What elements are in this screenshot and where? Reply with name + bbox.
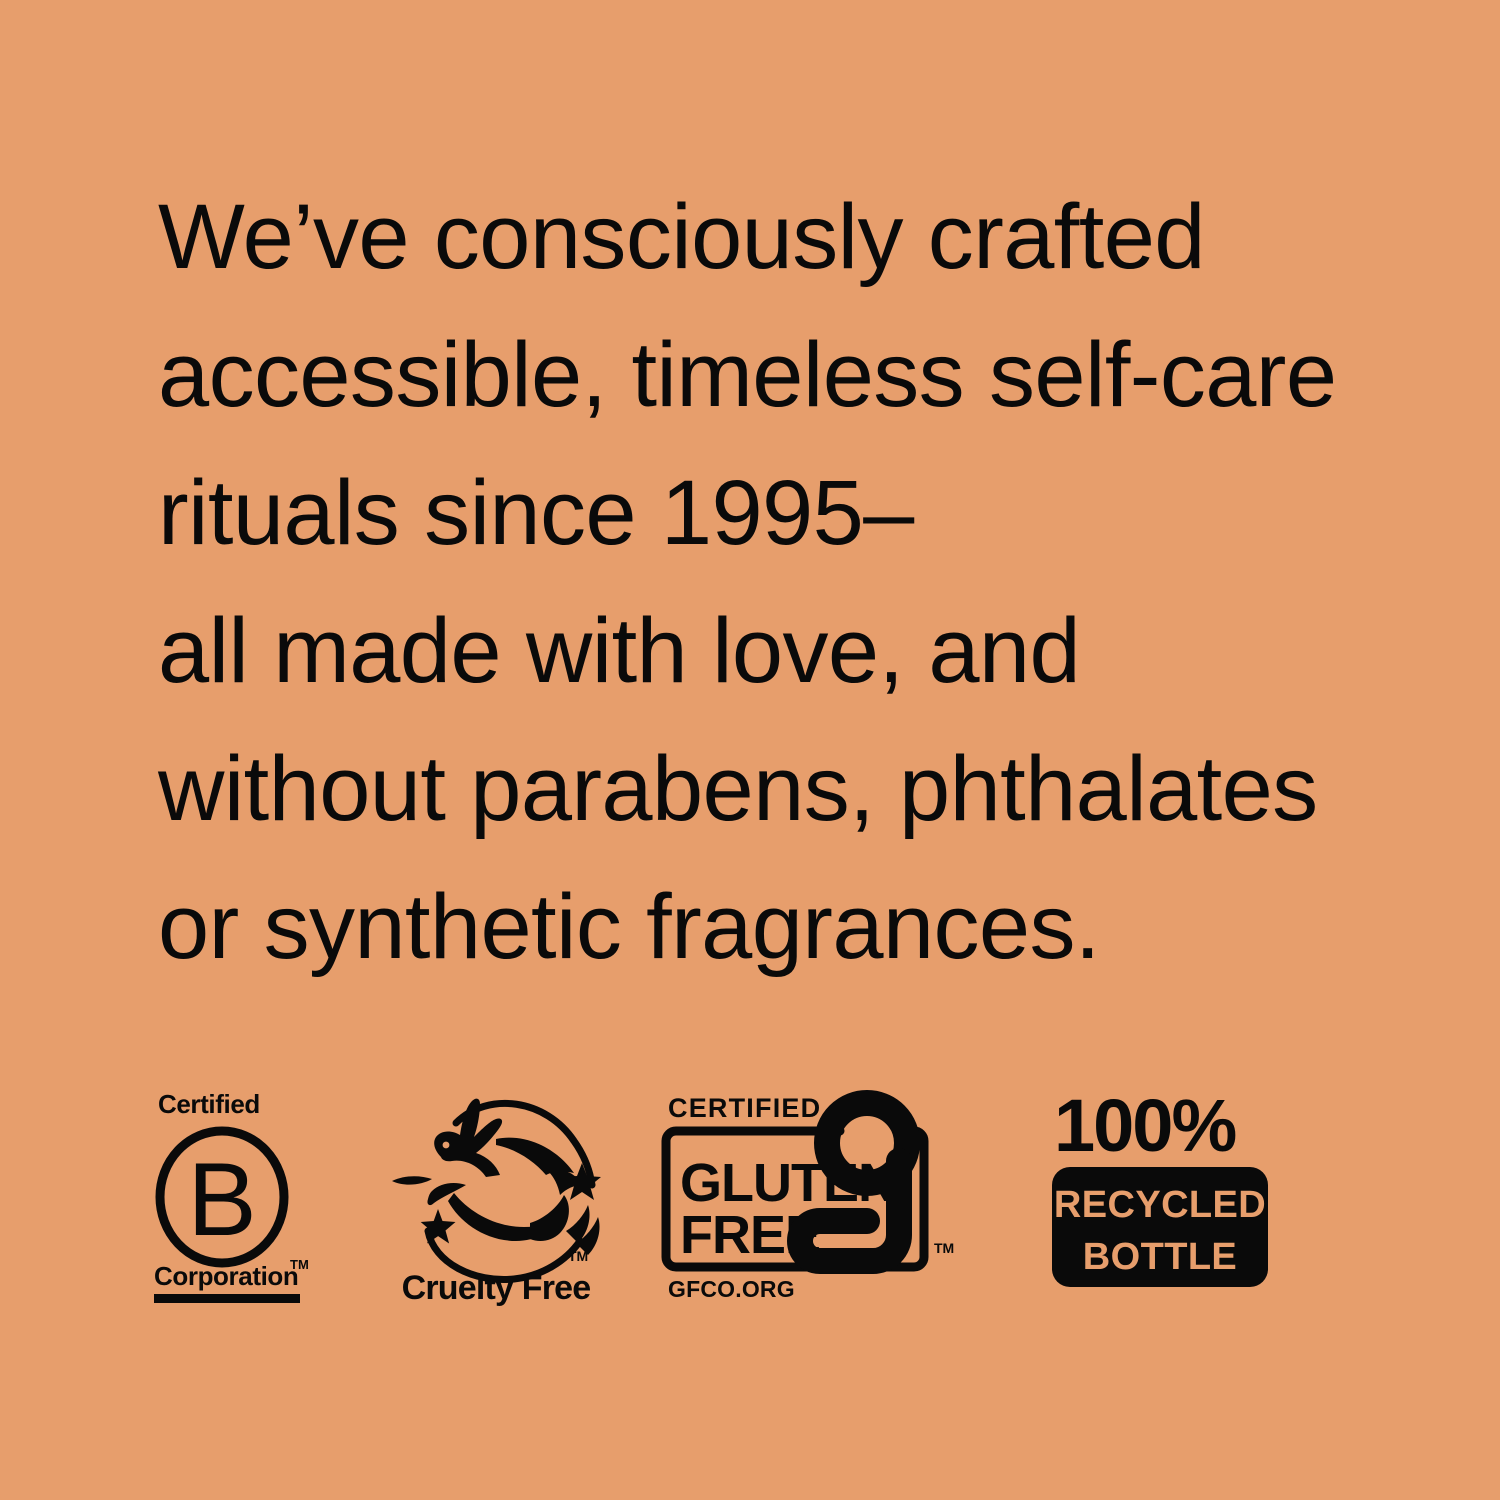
gluten-free-url: GFCO.ORG [668, 1276, 795, 1302]
badge-recycled-bottle: 100% RECYCLED BOTTLE [1050, 1085, 1285, 1305]
page-title: We’ve consciously crafted accessible, ti… [158, 168, 1448, 996]
badge-cruelty-free: TM Cruelty Free [378, 1085, 618, 1305]
recycled-bottle-icon: 100% RECYCLED BOTTLE [1050, 1085, 1285, 1305]
headline-line-4: all made with love, and [158, 582, 1448, 720]
b-corp-icon: Certified B Corporation TM [150, 1085, 320, 1305]
b-corp-corporation-label: Corporation [154, 1261, 298, 1291]
leaping-bunny-icon: TM Cruelty Free [378, 1085, 618, 1305]
certification-badge-row: Certified B Corporation TM [150, 1085, 1350, 1305]
headline-line-5: without parabens, phthalates [158, 720, 1448, 858]
cruelty-free-trademark: TM [568, 1248, 588, 1264]
recycled-line-1: RECYCLED [1054, 1184, 1266, 1226]
headline-line-6: or synthetic fragrances. [158, 858, 1448, 996]
recycled-percent: 100% [1054, 1084, 1235, 1167]
bunny-star-left [421, 1209, 456, 1244]
badge-gluten-free: CERTIFIED GLUTEN FREE TM GFCO.ORG [662, 1085, 982, 1305]
promo-panel: We’ve consciously crafted accessible, ti… [0, 0, 1500, 1500]
headline-line-1: We’ve consciously crafted [158, 168, 1448, 306]
badge-b-corporation: Certified B Corporation TM [150, 1085, 320, 1305]
b-corp-underline [154, 1294, 300, 1303]
b-corp-certified-label: Certified [158, 1089, 260, 1119]
cruelty-free-label: Cruelty Free [402, 1269, 591, 1307]
recycled-line-2: BOTTLE [1083, 1236, 1237, 1278]
headline-line-3: rituals since 1995– [158, 444, 1448, 582]
b-corp-trademark: TM [290, 1257, 309, 1272]
gfco-gluten-free-icon: CERTIFIED GLUTEN FREE TM GFCO.ORG [662, 1085, 982, 1305]
b-corp-letter: B [187, 1142, 256, 1258]
gluten-free-trademark: TM [934, 1240, 954, 1256]
gluten-free-certified-label: CERTIFIED [668, 1093, 821, 1123]
headline-line-2: accessible, timeless self-care [158, 306, 1448, 444]
